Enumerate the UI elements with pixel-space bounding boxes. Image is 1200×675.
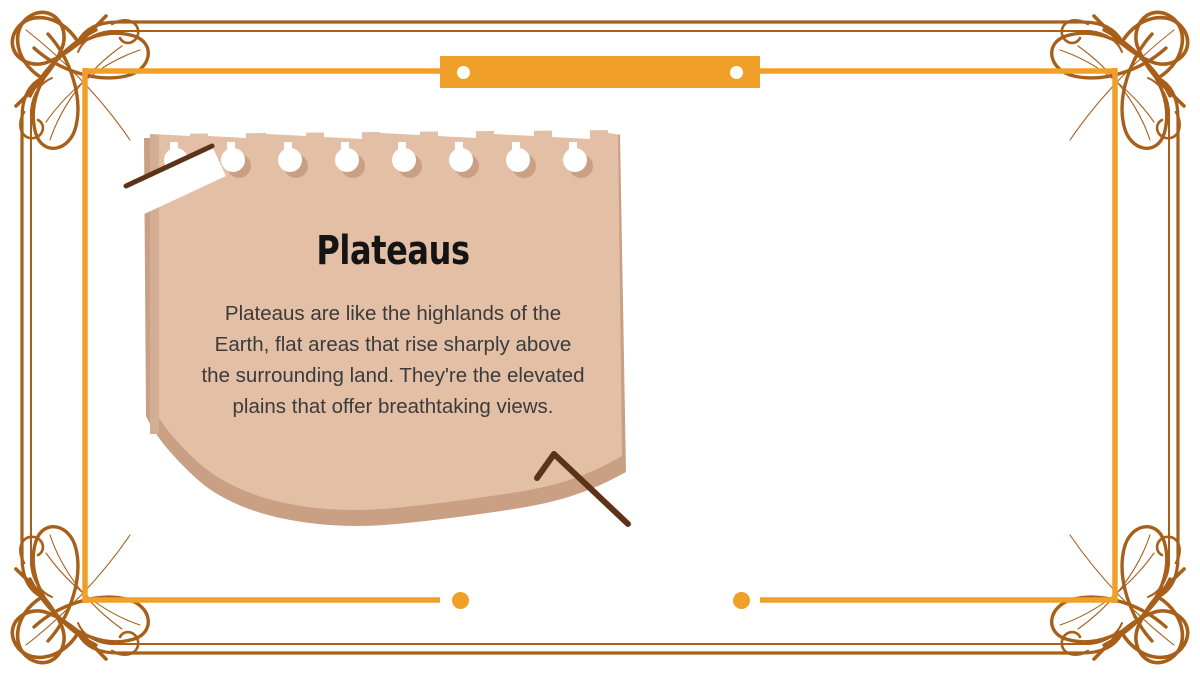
note-text-block: Plateaus Plateaus are like the highlands…: [198, 230, 588, 423]
tab-hole-right-icon: [730, 66, 743, 79]
note-title: Plateaus: [237, 230, 549, 272]
bottom-dot-right-icon: [733, 592, 750, 609]
bottom-left-flourish-icon: [12, 527, 148, 663]
bottom-dot-left-icon: [452, 592, 469, 609]
top-center-tab: [440, 56, 760, 88]
note-body-text: Plateaus are like the highlands of the E…: [198, 298, 588, 423]
slide-canvas: Plateaus Plateaus are like the highlands…: [0, 0, 1200, 675]
top-right-flourish-icon: [1052, 12, 1188, 148]
tab-hole-left-icon: [457, 66, 470, 79]
paper-note-card: Plateaus Plateaus are like the highlands…: [120, 120, 660, 540]
bottom-right-flourish-icon: [1052, 527, 1188, 663]
